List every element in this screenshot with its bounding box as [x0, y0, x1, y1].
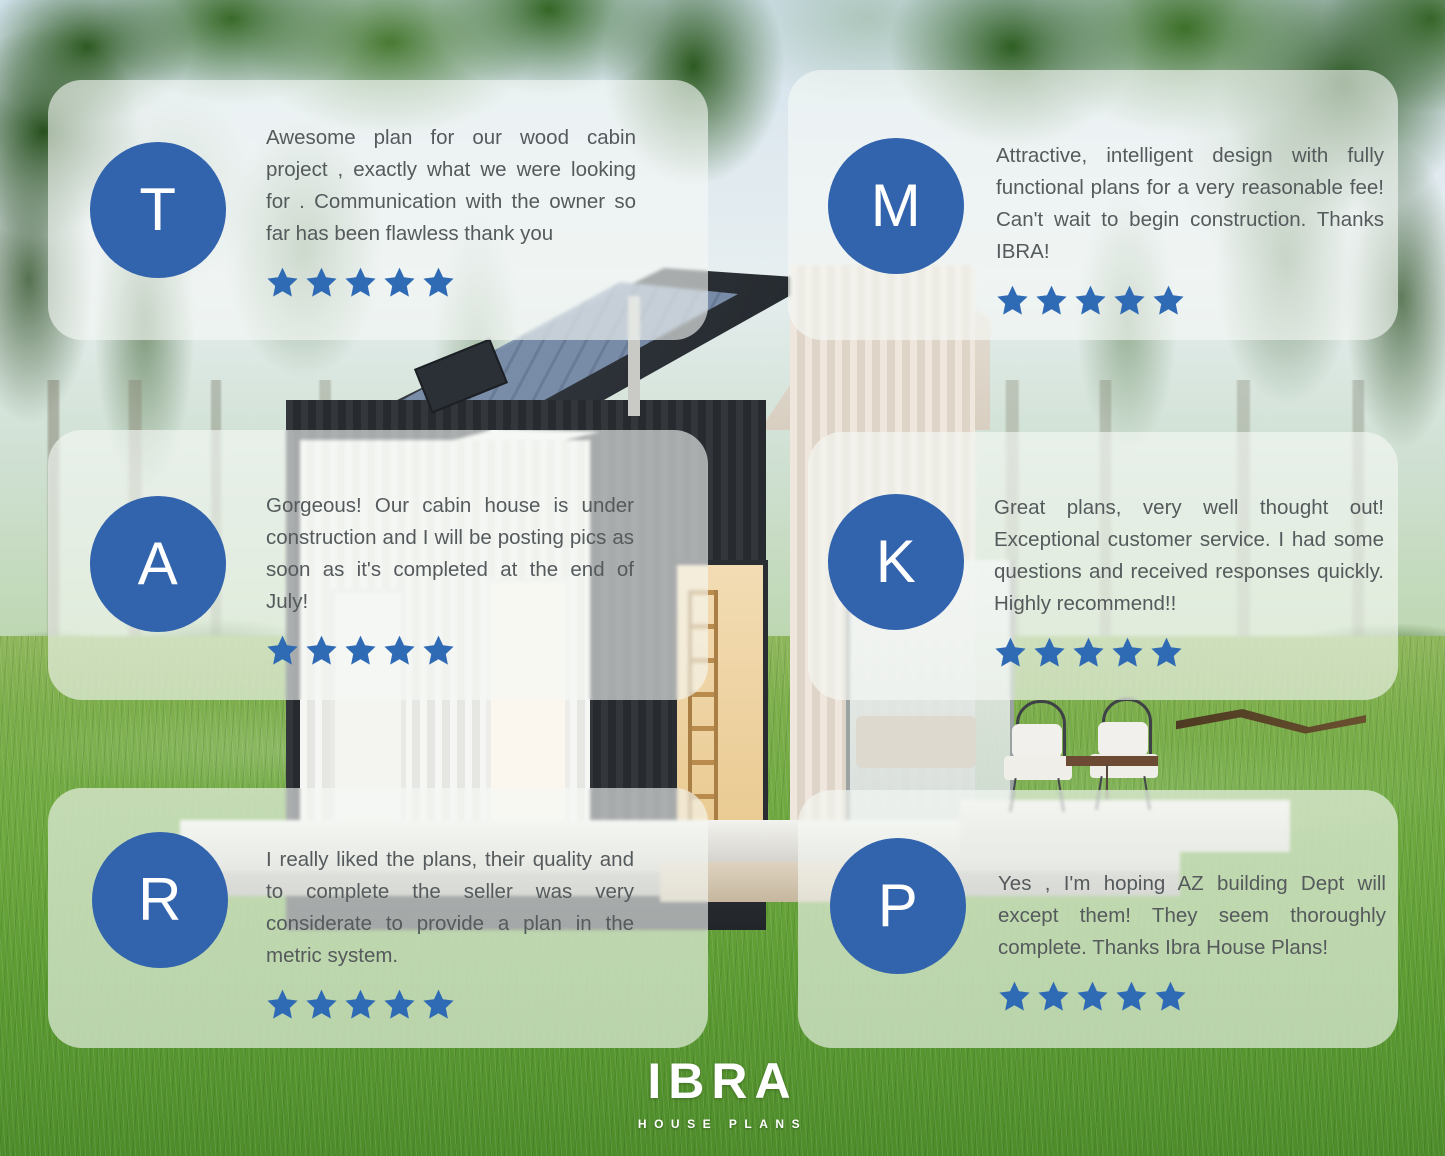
review-quote: Awesome plan for our wood cabin project … — [266, 122, 636, 250]
star-icon — [266, 266, 299, 298]
star-icon — [383, 988, 416, 1020]
review-quote: Gorgeous! Our cabin house is under const… — [266, 490, 634, 618]
review-body: Awesome plan for our wood cabin project … — [266, 122, 636, 298]
star-icon — [266, 634, 299, 666]
star-rating — [266, 634, 634, 666]
cabin-interior-sofa — [856, 716, 976, 768]
star-icon — [305, 988, 338, 1020]
review-body: Yes , I'm hoping AZ building Dept will e… — [998, 868, 1386, 1012]
star-icon — [305, 634, 338, 666]
review-card-r[interactable]: R I really liked the plans, their qualit… — [48, 788, 708, 1048]
review-quote: Attractive, intelligent design with full… — [996, 140, 1384, 268]
star-icon — [1074, 284, 1107, 316]
star-rating — [998, 980, 1386, 1012]
avatar: R — [92, 832, 228, 968]
testimonials-poster: T Awesome plan for our wood cabin projec… — [0, 0, 1445, 1156]
star-icon — [344, 266, 377, 298]
brand-logo: IBRA HOUSE PLANS — [0, 1056, 1445, 1130]
star-icon — [998, 980, 1031, 1012]
review-card-a[interactable]: A Gorgeous! Our cabin house is under con… — [48, 430, 708, 700]
star-icon — [305, 266, 338, 298]
star-icon — [422, 266, 455, 298]
star-icon — [1076, 980, 1109, 1012]
star-icon — [344, 634, 377, 666]
star-rating — [994, 636, 1384, 668]
avatar: T — [90, 142, 226, 278]
star-icon — [422, 634, 455, 666]
star-icon — [1150, 636, 1183, 668]
avatar: A — [90, 496, 226, 632]
review-body: Gorgeous! Our cabin house is under const… — [266, 490, 634, 666]
brand-name: IBRA — [0, 1056, 1445, 1106]
patio-side-table — [1066, 756, 1158, 766]
review-quote: Yes , I'm hoping AZ building Dept will e… — [998, 868, 1386, 964]
review-card-m[interactable]: M Attractive, intelligent design with fu… — [788, 70, 1398, 340]
brand-tagline: HOUSE PLANS — [0, 1118, 1445, 1130]
star-icon — [266, 988, 299, 1020]
star-icon — [1072, 636, 1105, 668]
review-body: I really liked the plans, their quality … — [266, 844, 634, 1020]
avatar: K — [828, 494, 964, 630]
star-icon — [1154, 980, 1187, 1012]
star-icon — [344, 988, 377, 1020]
star-icon — [1037, 980, 1070, 1012]
review-card-t[interactable]: T Awesome plan for our wood cabin projec… — [48, 80, 708, 340]
star-icon — [1115, 980, 1148, 1012]
star-icon — [1111, 636, 1144, 668]
star-icon — [996, 284, 1029, 316]
star-icon — [1035, 284, 1068, 316]
star-icon — [383, 266, 416, 298]
review-card-k[interactable]: K Great plans, very well thought out! Ex… — [808, 432, 1398, 700]
star-rating — [266, 988, 634, 1020]
star-icon — [1152, 284, 1185, 316]
review-quote: I really liked the plans, their quality … — [266, 844, 634, 972]
star-icon — [383, 634, 416, 666]
star-rating — [996, 284, 1384, 316]
star-icon — [422, 988, 455, 1020]
star-icon — [1033, 636, 1066, 668]
star-icon — [1113, 284, 1146, 316]
avatar: P — [830, 838, 966, 974]
avatar: M — [828, 138, 964, 274]
star-rating — [266, 266, 636, 298]
review-card-p[interactable]: P Yes , I'm hoping AZ building Dept will… — [798, 790, 1398, 1048]
star-icon — [994, 636, 1027, 668]
review-body: Great plans, very well thought out! Exce… — [994, 492, 1384, 668]
review-quote: Great plans, very well thought out! Exce… — [994, 492, 1384, 620]
review-body: Attractive, intelligent design with full… — [996, 140, 1384, 316]
